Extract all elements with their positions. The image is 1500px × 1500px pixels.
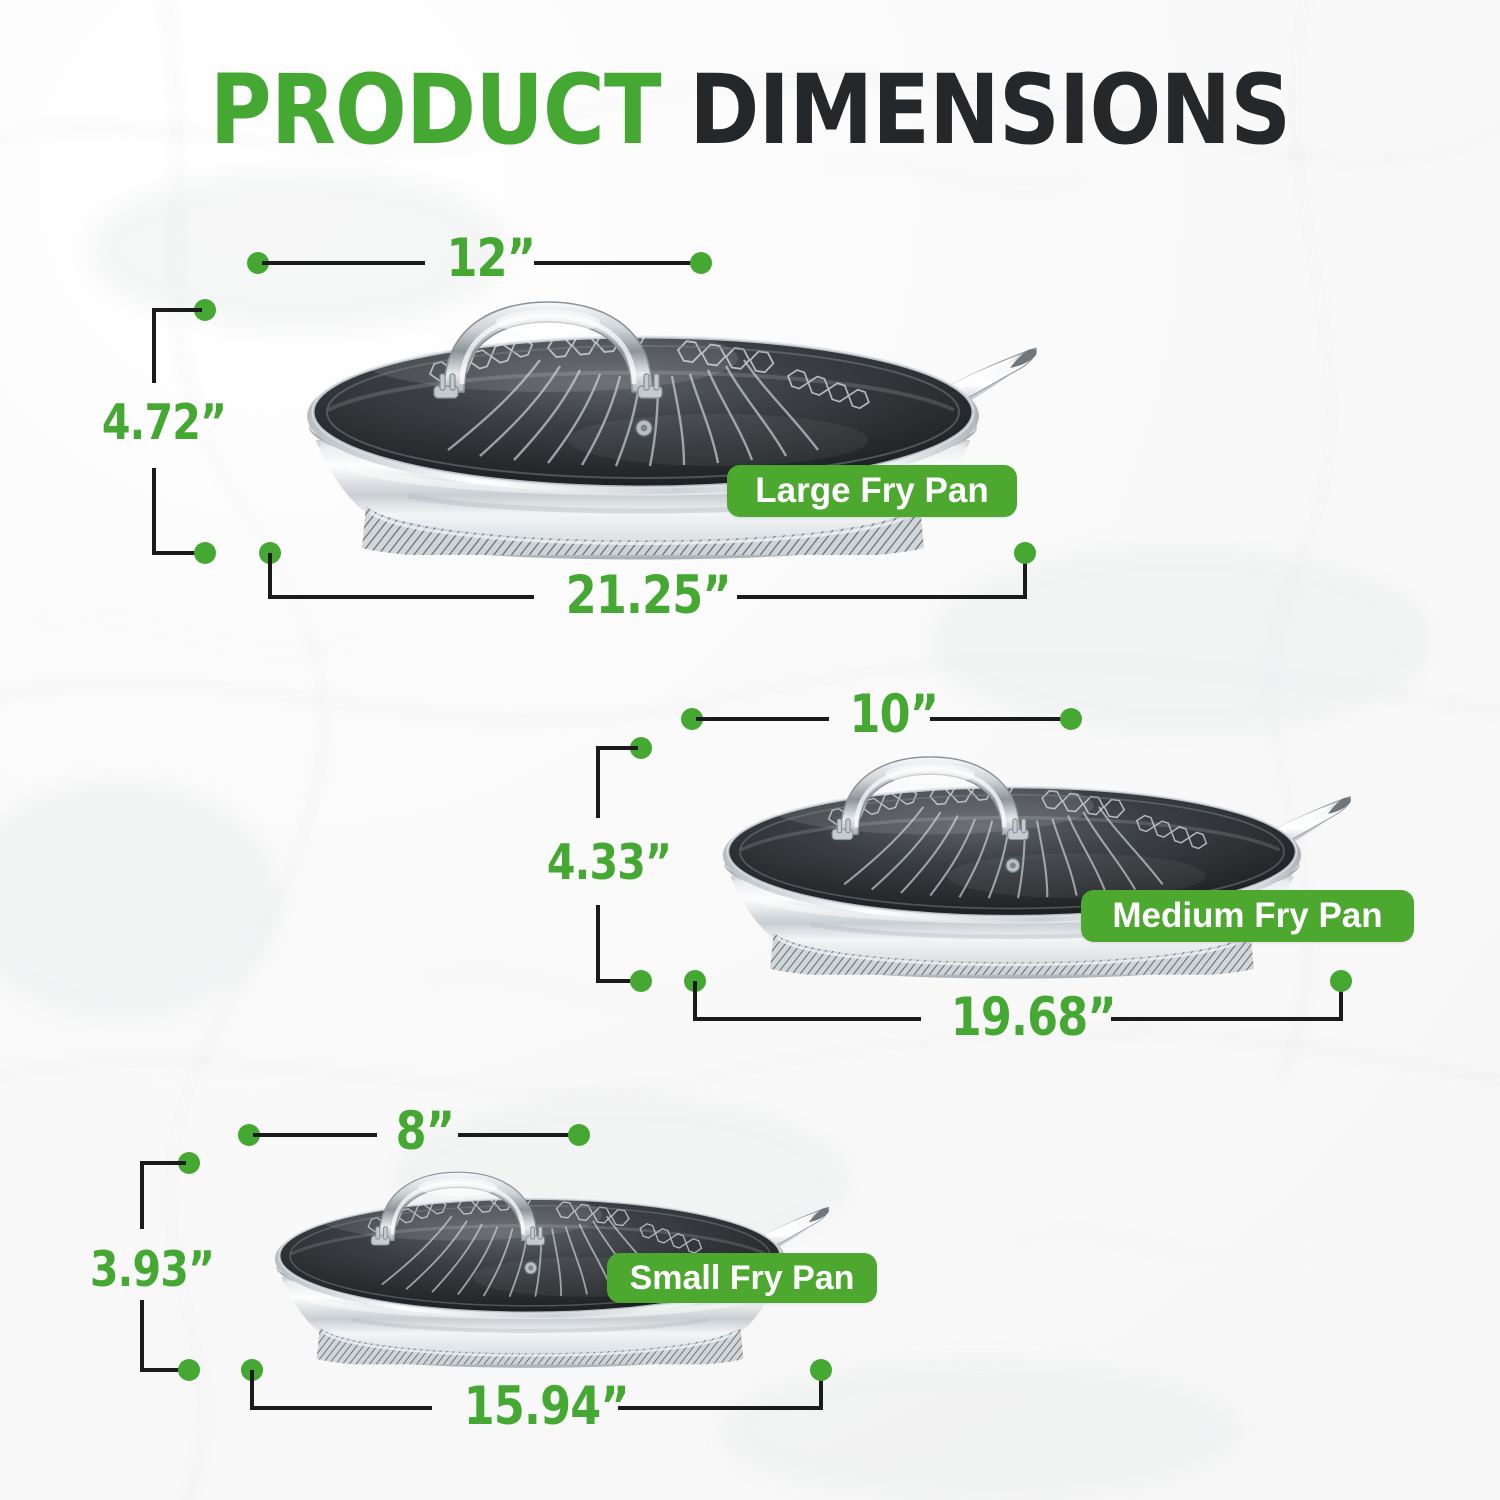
height-dot-bottom-small xyxy=(178,1359,200,1381)
length-line-right-large xyxy=(737,595,1027,599)
diameter-dot-right-medium xyxy=(1060,708,1082,730)
badge-small-label: Small Fry Pan xyxy=(630,1259,855,1298)
length-line-left-medium xyxy=(693,1017,921,1021)
height-line-top-small xyxy=(140,1161,144,1229)
diameter-line-left-large xyxy=(262,261,425,265)
height-tick-top-large xyxy=(152,308,202,312)
badge-large-label: Large Fry Pan xyxy=(755,471,988,511)
diameter-line-right-large xyxy=(534,261,698,265)
height-line-bottom-medium xyxy=(596,905,600,983)
height-dot-bottom-large xyxy=(194,542,216,564)
diameter-label-medium: 10” xyxy=(849,688,938,741)
length-line-right-medium xyxy=(1111,1017,1343,1021)
length-label-large: 21.25” xyxy=(566,569,731,622)
badge-medium-label: Medium Fry Pan xyxy=(1112,896,1382,936)
height-tick-top-small xyxy=(140,1161,186,1165)
length-drop-left-small xyxy=(250,1370,254,1410)
length-label-medium: 19.68” xyxy=(951,991,1116,1044)
height-line-top-large xyxy=(152,308,156,383)
length-line-left-small xyxy=(250,1406,432,1410)
badge-small-fry-pan[interactable]: Small Fry Pan xyxy=(607,1253,877,1303)
length-drop-left-medium xyxy=(693,981,697,1021)
length-drop-left-large xyxy=(268,553,272,599)
height-label-large: 4.72” xyxy=(102,398,226,447)
length-label-small: 15.94” xyxy=(464,1380,629,1433)
height-line-top-medium xyxy=(596,746,600,818)
pan-image-medium xyxy=(672,750,1352,980)
height-label-small: 3.93” xyxy=(90,1245,214,1294)
badge-large-fry-pan[interactable]: Large Fry Pan xyxy=(727,465,1017,517)
title-word-dimensions: DIMENSIONS xyxy=(689,54,1290,166)
title-word-product: PRODUCT xyxy=(210,54,661,166)
height-line-bottom-small xyxy=(140,1300,144,1372)
height-label-medium: 4.33” xyxy=(547,838,671,887)
height-tick-top-medium xyxy=(596,746,638,750)
diameter-label-small: 8” xyxy=(396,1105,455,1158)
diameter-line-left-medium xyxy=(696,717,829,721)
diameter-dot-right-large xyxy=(690,252,712,274)
diameter-line-right-small xyxy=(458,1133,576,1137)
height-line-bottom-large xyxy=(152,468,156,555)
diameter-label-large: 12” xyxy=(446,232,535,285)
length-line-left-large xyxy=(268,595,534,599)
length-line-right-small xyxy=(618,1406,823,1410)
diameter-line-left-small xyxy=(253,1133,377,1137)
height-dot-bottom-medium xyxy=(630,970,652,992)
diameter-line-right-medium xyxy=(930,717,1067,721)
infographic-canvas: PRODUCT DIMENSIONS 12” 4.72” 21.25” xyxy=(0,0,1500,1500)
page-title: PRODUCT DIMENSIONS xyxy=(90,62,1410,158)
diameter-dot-right-small xyxy=(568,1124,590,1146)
badge-medium-fry-pan[interactable]: Medium Fry Pan xyxy=(1081,890,1414,942)
